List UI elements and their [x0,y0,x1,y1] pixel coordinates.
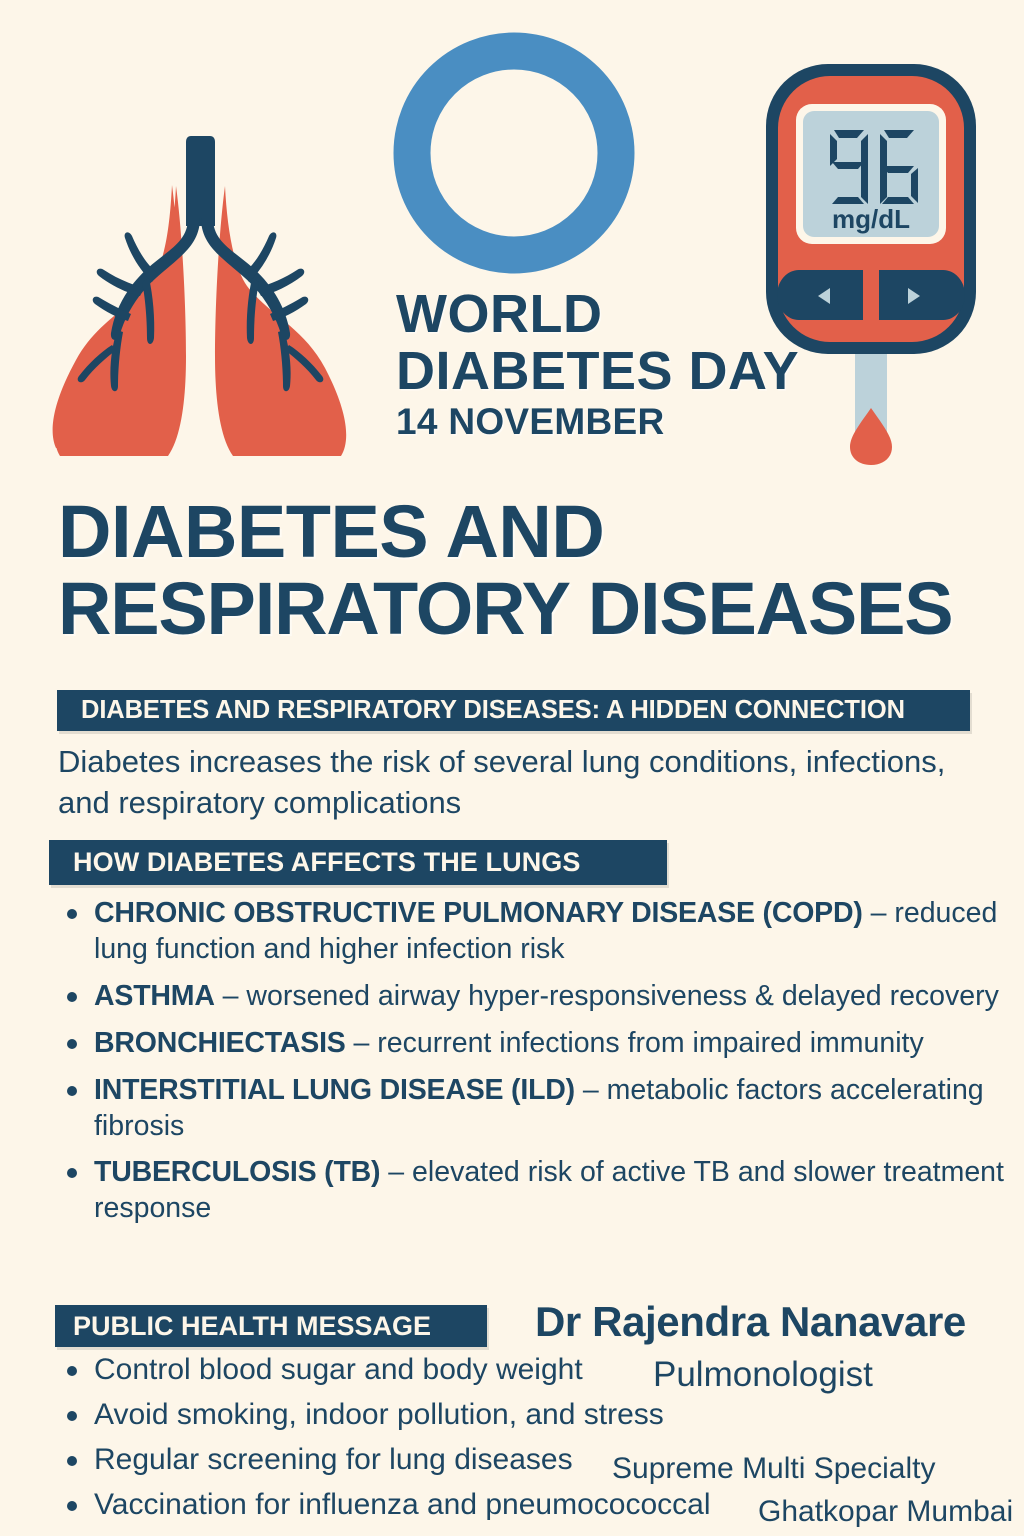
list-item: TUBERCULOSIS (TB) – elevated risk of act… [58,1155,1008,1227]
list-item: ASTHMA – worsened airway hyper-responsiv… [58,979,1008,1015]
list-item-desc: – worsened airway hyper-responsiveness &… [215,980,999,1012]
world-diabetes-day-heading: WORLD DIABETES DAY 14 NOVEMBER [396,288,996,440]
list-item-term: BRONCHIECTASIS [94,1027,346,1059]
lung-effects-list: CHRONIC OBSTRUCTIVE PULMONARY DISEASE (C… [58,896,1008,1238]
wdd-date: 14 NOVEMBER [396,404,996,440]
list-item: Avoid smoking, indoor pollution, and str… [58,1397,758,1433]
clinic-city: Ghatkopar Mumbai [758,1495,1013,1529]
section-banner-how-diabetes-affects-lungs: HOW DIABETES AFFECTS THE LUNGS [49,840,667,885]
list-item: CHRONIC OBSTRUCTIVE PULMONARY DISEASE (C… [58,896,1008,968]
section-banner-hidden-connection: DIABETES AND RESPIRATORY DISEASES: A HID… [57,690,970,731]
intro-paragraph: Diabetes increases the risk of several l… [58,742,978,824]
doctor-name: Dr Rajendra Nanavare [535,1298,1005,1346]
clinic-name: Supreme Multi Specialty [612,1452,935,1486]
list-item: Vaccination for influenza and pneumococo… [58,1487,758,1523]
wdd-line-2: DIABETES DAY [396,345,996,398]
list-item-term: ASTHMA [94,980,215,1012]
page-title-line-2: RESPIRATORY DISEASES [58,571,998,648]
list-item: INTERSTITIAL LUNG DISEASE (ILD) – metabo… [58,1073,1008,1145]
page-title: DIABETES AND RESPIRATORY DISEASES [58,494,998,648]
list-item-desc: – recurrent infections from impaired imm… [346,1027,924,1059]
diabetes-blue-circle-icon [393,32,635,274]
wdd-line-1: WORLD [396,288,996,341]
list-item-term: CHRONIC OBSTRUCTIVE PULMONARY DISEASE (C… [94,897,863,929]
lungs-icon [28,118,373,463]
meter-unit-label: mg/dL [832,204,910,234]
list-item: BRONCHIECTASIS – recurrent infections fr… [58,1026,1008,1062]
section-banner-public-health-message: PUBLIC HEALTH MESSAGE [55,1305,487,1347]
page-title-line-1: DIABETES AND [58,494,998,571]
list-item-term: INTERSTITIAL LUNG DISEASE (ILD) [94,1074,575,1106]
doctor-role: Pulmonologist [653,1355,873,1395]
infographic-poster: mg/dL WORLD DIABETES DAY 14 NOVEMBER DIA… [0,0,1024,1536]
list-item-term: TUBERCULOSIS (TB) [94,1156,380,1188]
